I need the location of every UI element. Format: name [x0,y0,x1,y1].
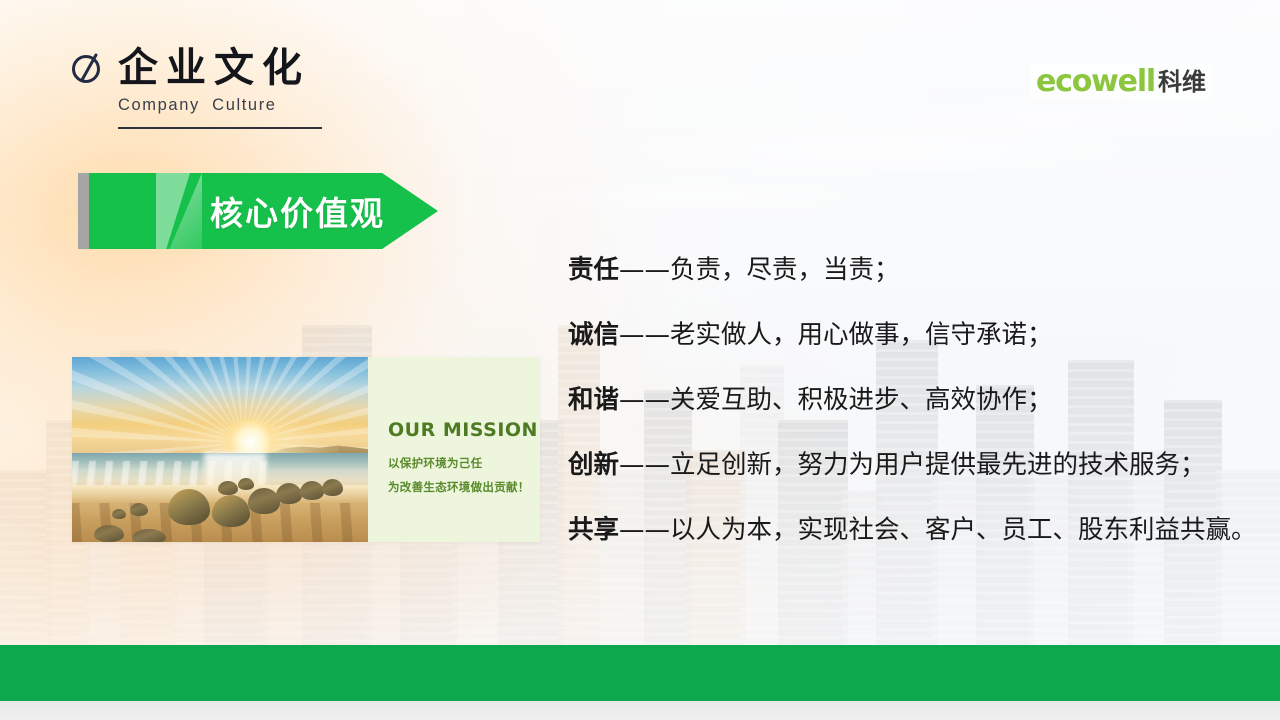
value-key-2: 和谐 [568,385,619,415]
value-dash-3: —— [619,450,670,480]
ecowell-logo: ecowell 科维 [1030,64,1212,100]
value-dash-1: —— [619,320,670,350]
page-title-en: Company Culture [118,96,310,115]
value-text-1: 老实做人，用心做事，信守承诺； [670,320,1053,350]
value-key-3: 创新 [568,450,619,480]
page-title-cn: 企业文化 [118,48,310,88]
value-key-0: 责任 [568,255,619,285]
mission-card: OUR MISSION 以保护环境为己任 为改善生态环境做出贡献！ [72,357,540,542]
page-title-block: 企业文化 Company Culture [70,48,310,115]
value-key-1: 诚信 [568,320,619,350]
value-item-0: 责任——负责，尽责，当责； [568,238,1268,303]
mission-text-panel: OUR MISSION 以保护环境为己任 为改善生态环境做出贡献！ [368,357,540,542]
value-key-4: 共享 [568,515,619,545]
value-item-1: 诚信——老实做人，用心做事，信守承诺； [568,303,1268,368]
value-text-3: 立足创新，努力为用户提供最先进的技术服务； [670,450,1206,480]
value-dash-2: —— [619,385,670,415]
banner-label: 核心价值观 [210,173,385,249]
footer-bottom-strip [0,701,1280,720]
banner-left-tab [78,173,89,249]
value-item-2: 和谐——关爱互助、积极进步、高效协作； [568,368,1268,433]
sunset-beach-boulders-photo [72,357,368,542]
value-text-2: 关爱互助、积极进步、高效协作； [670,385,1053,415]
no-entry-slash-icon [70,51,104,85]
value-dash-4: —— [619,515,670,545]
logo-latin-text: ecowell [1036,67,1155,97]
footer-green-bar [0,645,1280,701]
value-item-4: 共享——以人为本，实现社会、客户、员工、股东利益共赢。 [568,498,1268,563]
mission-line-1: 以保护环境为己任 [388,455,482,471]
logo-cn-text: 科维 [1158,70,1206,94]
value-item-3: 创新——立足创新，努力为用户提供最先进的技术服务； [568,433,1268,498]
value-dash-0: —— [619,255,670,285]
value-text-4: 以人为本，实现社会、客户、员工、股东利益共赢。 [670,515,1257,545]
core-values-banner: 核心价值观 [78,173,438,249]
value-text-0: 负责，尽责，当责； [670,255,900,285]
slide-canvas: 企业文化 Company Culture ecowell 科维 核心价值观 [0,0,1280,720]
mission-line-2: 为改善生态环境做出贡献！ [388,479,530,495]
mission-title: OUR MISSION [388,419,538,441]
title-underline [118,127,322,129]
core-values-list: 责任——负责，尽责，当责； 诚信——老实做人，用心做事，信守承诺； 和谐——关爱… [568,238,1268,563]
